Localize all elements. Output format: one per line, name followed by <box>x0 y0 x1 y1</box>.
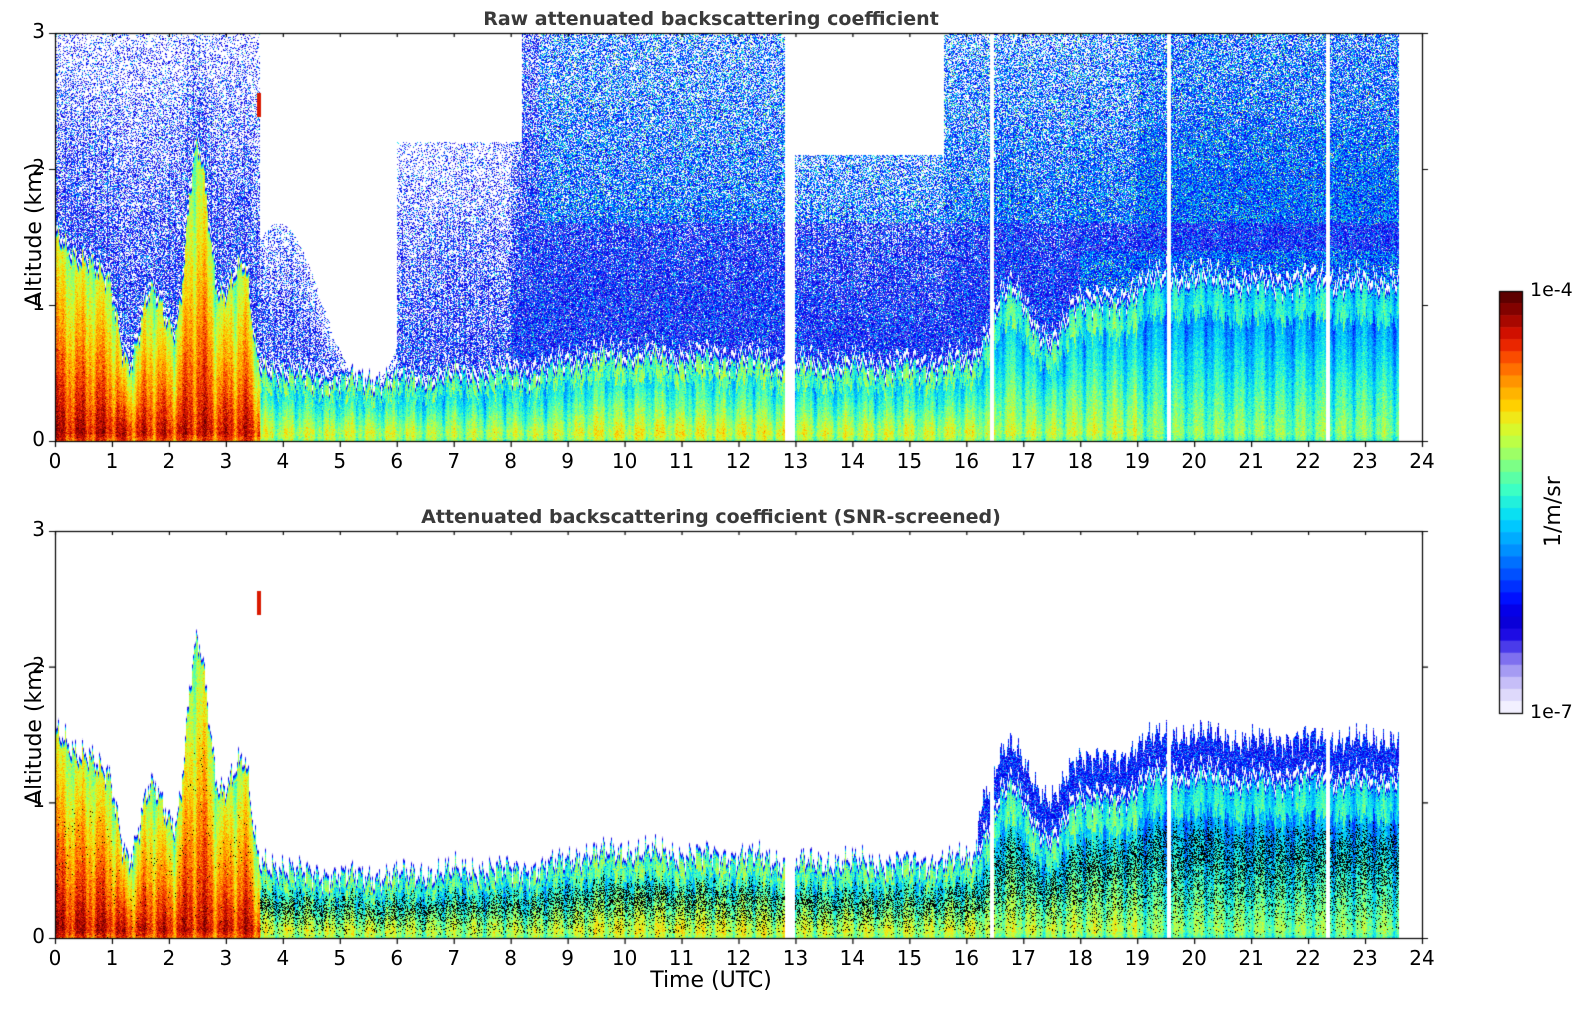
axis-tick-label: 7 <box>447 946 460 970</box>
axis-tick-label: 24 <box>1409 946 1434 970</box>
axis-tick-label: 23 <box>1352 946 1377 970</box>
panel-screened-title: Attenuated backscattering coefficient (S… <box>0 506 1422 528</box>
axis-tick-label: 2 <box>163 946 176 970</box>
axis-tick-label: 16 <box>954 946 979 970</box>
figure-root: Raw attenuated backscattering coefficien… <box>0 0 1595 1020</box>
axis-tick-label: 14 <box>840 946 865 970</box>
axis-tick-label: 20 <box>1181 449 1206 473</box>
axis-tick-label: 16 <box>954 449 979 473</box>
axis-tick-label: 0 <box>32 924 45 948</box>
axis-tick-label: 12 <box>726 946 751 970</box>
axis-tick-label: 3 <box>32 19 45 43</box>
axis-tick-label: 9 <box>561 946 574 970</box>
axis-tick-label: 21 <box>1238 449 1263 473</box>
axis-tick-label: 15 <box>897 449 922 473</box>
axis-tick-label: 0 <box>32 427 45 451</box>
axis-tick-label: 13 <box>783 946 808 970</box>
axis-tick-label: 21 <box>1238 946 1263 970</box>
axis-tick-label: 19 <box>1124 946 1149 970</box>
axis-tick-label: 1 <box>106 449 119 473</box>
axis-tick-label: 23 <box>1352 449 1377 473</box>
axis-tick-label: 0 <box>49 449 62 473</box>
axis-tick-label: 1 <box>32 788 45 812</box>
axis-tick-label: 6 <box>390 449 403 473</box>
axis-tick-label: 6 <box>390 946 403 970</box>
axis-tick-label: 10 <box>612 449 637 473</box>
axis-tick-label: 11 <box>669 449 694 473</box>
axis-tick-label: 10 <box>612 946 637 970</box>
axis-tick-label: 11 <box>669 946 694 970</box>
panel-screened-xlabel: Time (UTC) <box>0 968 1422 993</box>
axis-tick-label: 2 <box>163 449 176 473</box>
panel-screened-ylabel: Altitude (km) <box>22 660 47 804</box>
axis-tick-label: 2 <box>32 653 45 677</box>
colorbar-max-label: 1e-4 <box>1530 279 1573 301</box>
axis-tick-label: 5 <box>333 449 346 473</box>
axis-tick-label: 9 <box>561 449 574 473</box>
axis-tick-label: 8 <box>504 946 517 970</box>
panel-raw-title: Raw attenuated backscattering coefficien… <box>0 8 1422 30</box>
axis-tick-label: 1 <box>106 946 119 970</box>
axis-tick-label: 15 <box>897 946 922 970</box>
axis-tick-label: 4 <box>276 946 289 970</box>
axis-tick-label: 18 <box>1068 449 1093 473</box>
axis-tick-label: 17 <box>1011 449 1036 473</box>
axis-tick-label: 24 <box>1409 449 1434 473</box>
axis-tick-label: 5 <box>333 946 346 970</box>
colorbar-unit-label: 1/m/sr <box>1541 476 1566 547</box>
panel-raw-ylabel: Altitude (km) <box>22 163 47 307</box>
axis-tick-label: 8 <box>504 449 517 473</box>
axis-tick-label: 4 <box>276 449 289 473</box>
colorbar-min-label: 1e-7 <box>1530 701 1573 723</box>
axis-tick-label: 1 <box>32 291 45 315</box>
axis-tick-label: 2 <box>32 155 45 179</box>
axis-tick-label: 19 <box>1124 449 1149 473</box>
axis-tick-label: 3 <box>220 946 233 970</box>
axis-tick-label: 12 <box>726 449 751 473</box>
axis-tick-label: 3 <box>32 517 45 541</box>
axis-tick-label: 13 <box>783 449 808 473</box>
axis-tick-label: 20 <box>1181 946 1206 970</box>
axis-tick-label: 22 <box>1295 449 1320 473</box>
axis-tick-label: 22 <box>1295 946 1320 970</box>
axis-tick-label: 17 <box>1011 946 1036 970</box>
axis-tick-label: 3 <box>220 449 233 473</box>
axis-tick-label: 18 <box>1068 946 1093 970</box>
axis-tick-label: 0 <box>49 946 62 970</box>
axis-tick-label: 7 <box>447 449 460 473</box>
axis-tick-label: 14 <box>840 449 865 473</box>
